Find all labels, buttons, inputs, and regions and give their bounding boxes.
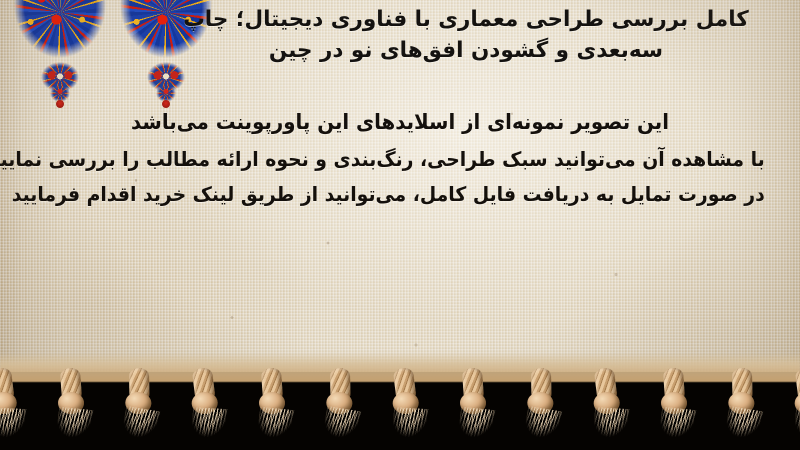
tassel-strands-icon xyxy=(718,406,763,450)
fringe-tassel xyxy=(451,368,495,450)
medallion-body-icon xyxy=(14,0,106,60)
carpet-fringe xyxy=(0,352,800,450)
fringe-tassel xyxy=(382,367,430,450)
tassel-strands-icon xyxy=(388,407,429,450)
tassel-strands-icon xyxy=(517,406,562,450)
slide-body: این تصویر نمونه‌ای از اسلایدهای این پاور… xyxy=(12,112,788,204)
tassel-strands-icon xyxy=(50,407,93,450)
slide-title-line-2: سه‌بعدی و گشودن افق‌های نو در چین xyxy=(166,35,766,66)
fringe-tassel xyxy=(583,367,631,450)
tassel-strands-icon xyxy=(115,406,160,450)
tassel-strands-icon xyxy=(0,407,27,450)
slide-body-line-1: این تصویر نمونه‌ای از اسلایدهای این پاور… xyxy=(35,112,764,133)
tassel-strands-icon xyxy=(251,407,294,450)
slide-body-line-2: با مشاهده آن می‌توانید سبک طراحی، رنگ‌بن… xyxy=(35,149,764,169)
tassel-strands-icon xyxy=(316,406,361,450)
fringe-tassel xyxy=(315,367,363,450)
tassel-strands-icon xyxy=(653,407,696,450)
tassel-strands-icon xyxy=(589,407,630,450)
fringe-tassel xyxy=(181,367,229,450)
slide-body-line-3: در صورت تمایل به دریافت فایل کامل، می‌تو… xyxy=(35,184,764,204)
fringe-tassel xyxy=(784,367,800,450)
fringe-tassel xyxy=(0,367,28,450)
medallion-tip-icon xyxy=(162,100,170,108)
fringe-tassel xyxy=(717,367,765,450)
fringe-tassel xyxy=(516,367,564,450)
slide-title-line-1: کامل بررسی طراحی معماری با فناوری دیجیتا… xyxy=(166,4,766,35)
tassel-strands-icon xyxy=(452,407,495,450)
fringe-tassel xyxy=(250,368,294,450)
medallion-tip-icon xyxy=(56,100,64,108)
fringe-tassel xyxy=(652,368,696,450)
medallion-ornament-left xyxy=(14,0,106,96)
tassel-strands-icon xyxy=(790,407,800,450)
slide-canvas: کامل بررسی طراحی معماری با فناوری دیجیتا… xyxy=(0,0,800,450)
fringe-tassel xyxy=(49,368,93,450)
slide-title: کامل بررسی طراحی معماری با فناوری دیجیتا… xyxy=(166,4,766,67)
fringe-tassel xyxy=(114,367,162,450)
tassel-strands-icon xyxy=(187,407,228,450)
